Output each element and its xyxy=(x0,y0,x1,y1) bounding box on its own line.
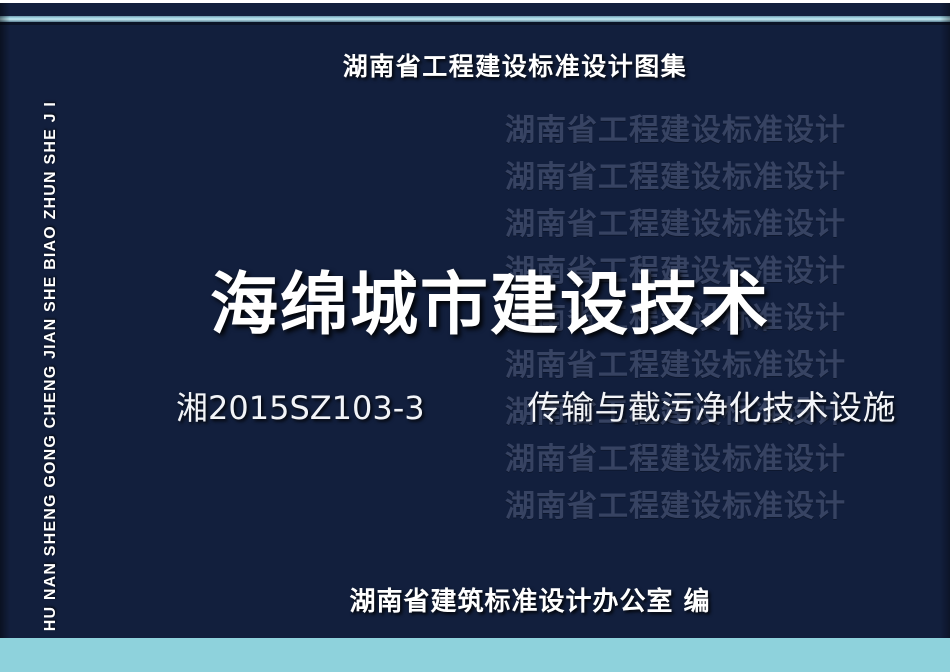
cover-main-title-text: 海绵城市建设技术 xyxy=(210,266,770,345)
cover-header: 湖南省工程建设标准设计图集 xyxy=(0,47,950,83)
cover-plate: 湖南省工程建设标准设计 湖南省工程建设标准设计 湖南省工程建设标准设计 湖南省工… xyxy=(0,3,950,638)
cover-publisher: 湖南省建筑标准设计办公室 编 xyxy=(0,581,950,618)
cover-subtitle-text: 传输与截污净化技术设施 xyxy=(528,381,897,429)
watermark-row: 湖南省工程建设标准设计 xyxy=(505,154,885,201)
bottom-accent-band xyxy=(0,638,950,672)
cover-header-title: 湖南省工程建设标准设计图集 xyxy=(343,52,688,81)
spine-pinyin-text: HU NAN SHENG GONG CHENG JIAN SHE BIAO ZH… xyxy=(42,101,60,631)
watermark-row: 湖南省工程建设标准设计 xyxy=(505,436,885,483)
watermark-row: 湖南省工程建设标准设计 xyxy=(505,107,885,154)
atlas-cover-page: 湖南省工程建设标准设计 湖南省工程建设标准设计 湖南省工程建设标准设计 湖南省工… xyxy=(0,0,950,672)
cover-publisher-text: 湖南省建筑标准设计办公室 编 xyxy=(349,587,710,617)
atlas-code: 湘2015SZ103-3 xyxy=(176,383,425,429)
cover-main-title: 海绵城市建设技术 xyxy=(0,249,950,348)
watermark-row: 湖南省工程建设标准设计 xyxy=(505,483,885,530)
cover-subtitle-row: 湘2015SZ103-3 传输与截污净化技术设施 xyxy=(176,381,896,429)
watermark-row: 湖南省工程建设标准设计 xyxy=(505,201,885,248)
top-accent-rule-shadow xyxy=(0,22,950,25)
